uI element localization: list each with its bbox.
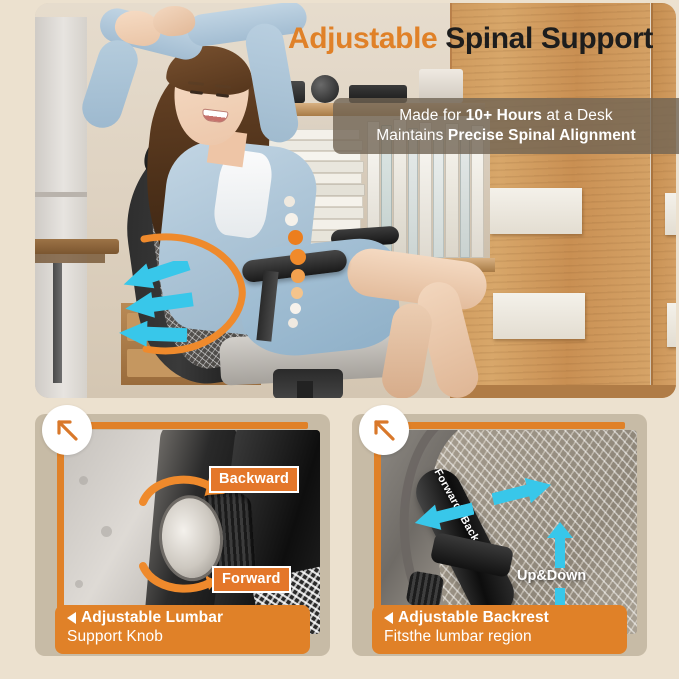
- desk-ledge: [35, 239, 119, 254]
- desk-ledge-shadow: [35, 254, 105, 263]
- spine-dot: [285, 213, 298, 226]
- caption-line-1-text: Adjustable Backrest: [398, 609, 549, 627]
- cyan-right-arrow-icon: [492, 478, 554, 511]
- shelf-object: [311, 75, 339, 103]
- spine-dot: [284, 196, 295, 207]
- cyan-up-arrow-icon: [546, 522, 574, 573]
- page-title-accent: Adjustable: [288, 22, 437, 55]
- tag-forward: Forward: [212, 566, 291, 593]
- panel-photo-lumbar-knob: Backward Forward: [57, 430, 320, 634]
- cyan-left-arrow-icon: [123, 291, 195, 321]
- feature-panels: Backward Forward Adjustable Lumbar Suppo…: [35, 414, 647, 656]
- banner-line-1: Made for 10+ Hours at a Desk: [399, 106, 612, 126]
- spine-dot: [288, 230, 303, 245]
- spine-dot: [290, 249, 306, 265]
- caption-line-2: Fitsthe lumbar region: [384, 628, 627, 646]
- hero-photo: [35, 3, 676, 398]
- panel-accent-bar-top: [57, 422, 308, 429]
- knob-closeup-scene: Backward Forward: [57, 430, 320, 634]
- product-infographic: Adjustable Spinal Support Made for 10+ H…: [0, 0, 679, 679]
- wall-tile: [665, 193, 676, 235]
- spine-dot: [288, 318, 298, 328]
- banner-line-1-prefix: Made for: [399, 107, 465, 124]
- caption-line-1: Adjustable Lumbar: [67, 609, 310, 627]
- feature-banner: Made for 10+ Hours at a Desk Maintains P…: [333, 98, 679, 154]
- banner-line-2-prefix: Maintains: [376, 127, 448, 144]
- tag-backward: Backward: [209, 466, 299, 493]
- panel-photo-backrest: Forward&Back: [374, 430, 637, 634]
- caption-lumbar-knob: Adjustable Lumbar Support Knob: [55, 605, 310, 654]
- triangle-left-icon: [384, 612, 393, 624]
- arrow-up-left-icon: [42, 405, 92, 455]
- backrest-closeup-scene: Forward&Back: [374, 430, 637, 634]
- hero-scene: [35, 3, 676, 398]
- wall-tile: [490, 188, 582, 234]
- triangle-left-icon: [67, 612, 76, 624]
- banner-line-2-bold: Precise Spinal Alignment: [448, 127, 636, 144]
- cyan-left-arrow-icon: [117, 321, 189, 351]
- wall-tile: [667, 303, 676, 347]
- desk-leg: [53, 263, 62, 383]
- banner-line-2: Maintains Precise Spinal Alignment: [376, 126, 636, 146]
- cyan-left-arrow-icon: [120, 261, 192, 291]
- panel-adjustable-backrest: Forward&Back: [352, 414, 647, 656]
- spine-dot: [291, 287, 303, 299]
- banner-line-1-bold: 10+ Hours: [466, 107, 542, 124]
- arrow-up-left-icon: [359, 405, 409, 455]
- page-title-main: Spinal Support: [445, 22, 653, 55]
- panel-lumbar-knob: Backward Forward Adjustable Lumbar Suppo…: [35, 414, 330, 656]
- caption-line-1-text: Adjustable Lumbar: [81, 609, 223, 627]
- panel-accent-bar-top: [374, 422, 625, 429]
- caption-line-1: Adjustable Backrest: [384, 609, 627, 627]
- chair-gas-lift: [297, 381, 313, 398]
- page-title: Adjustable Spinal Support: [0, 22, 653, 56]
- caption-backrest: Adjustable Backrest Fitsthe lumbar regio…: [372, 605, 627, 654]
- wall-tile: [493, 293, 585, 339]
- lumbar-adjust-knob: [405, 570, 444, 609]
- spine-dot: [291, 269, 305, 283]
- banner-line-1-suffix: at a Desk: [542, 107, 613, 124]
- spine-dot: [290, 303, 301, 314]
- label-updown: Up&Down: [517, 568, 586, 584]
- baseboard: [450, 385, 676, 398]
- caption-line-2: Support Knob: [67, 628, 310, 646]
- cyan-left-arrow-icon: [412, 502, 474, 535]
